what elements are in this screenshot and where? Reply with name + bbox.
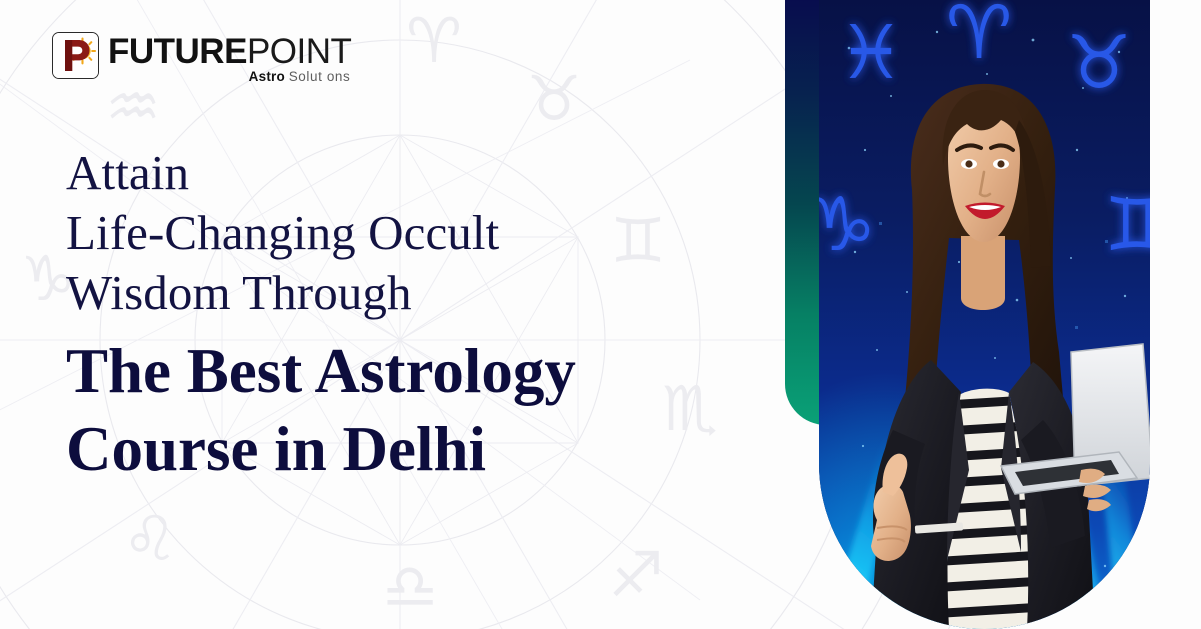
- headline-light-line-2: Life-Changing Occult: [66, 203, 706, 263]
- futurepoint-sun-p-logo-icon: [52, 32, 99, 79]
- brand-logo[interactable]: FUTUREPOINT Astro Solut ons: [52, 32, 351, 84]
- brand-wordmark: FUTUREPOINT Astro Solut ons: [108, 32, 351, 84]
- astrology-course-banner: ♈ ♉ ♊ ♒ ♑ ♌ ♎ ♐ ♏: [0, 0, 1201, 629]
- svg-text:♐: ♐: [608, 538, 664, 611]
- hero-photo-card: ♓ ♈ ♉ ♊ ♑: [819, 0, 1150, 629]
- headline-block: Attain Life-Changing Occult Wisdom Throu…: [66, 143, 706, 488]
- svg-text:♎: ♎: [382, 550, 438, 623]
- brand-name-thin: POINT: [247, 32, 351, 71]
- hero-visual: ♓ ♈ ♉ ♊ ♑: [785, 0, 1150, 629]
- brand-tagline-light: Solut ons: [289, 69, 351, 84]
- thumbs-up-hand: [871, 454, 911, 561]
- headline-light-line-1: Attain: [66, 143, 706, 203]
- headline-bold-line-2: Course in Delhi: [66, 410, 706, 488]
- headline-light: Attain Life-Changing Occult Wisdom Throu…: [66, 143, 706, 323]
- brand-tagline-bold: Astro: [249, 69, 285, 84]
- svg-text:♌: ♌: [122, 502, 178, 575]
- brand-name-bold: FUTURE: [108, 32, 247, 71]
- headline-bold: The Best Astrology Course in Delhi: [66, 332, 706, 488]
- headline-bold-line-1: The Best Astrology: [66, 332, 706, 410]
- svg-text:♈: ♈: [406, 4, 462, 77]
- headline-light-line-3: Wisdom Through: [66, 263, 706, 323]
- woman-with-laptop-photo: [819, 0, 1150, 629]
- svg-text:♉: ♉: [526, 62, 582, 135]
